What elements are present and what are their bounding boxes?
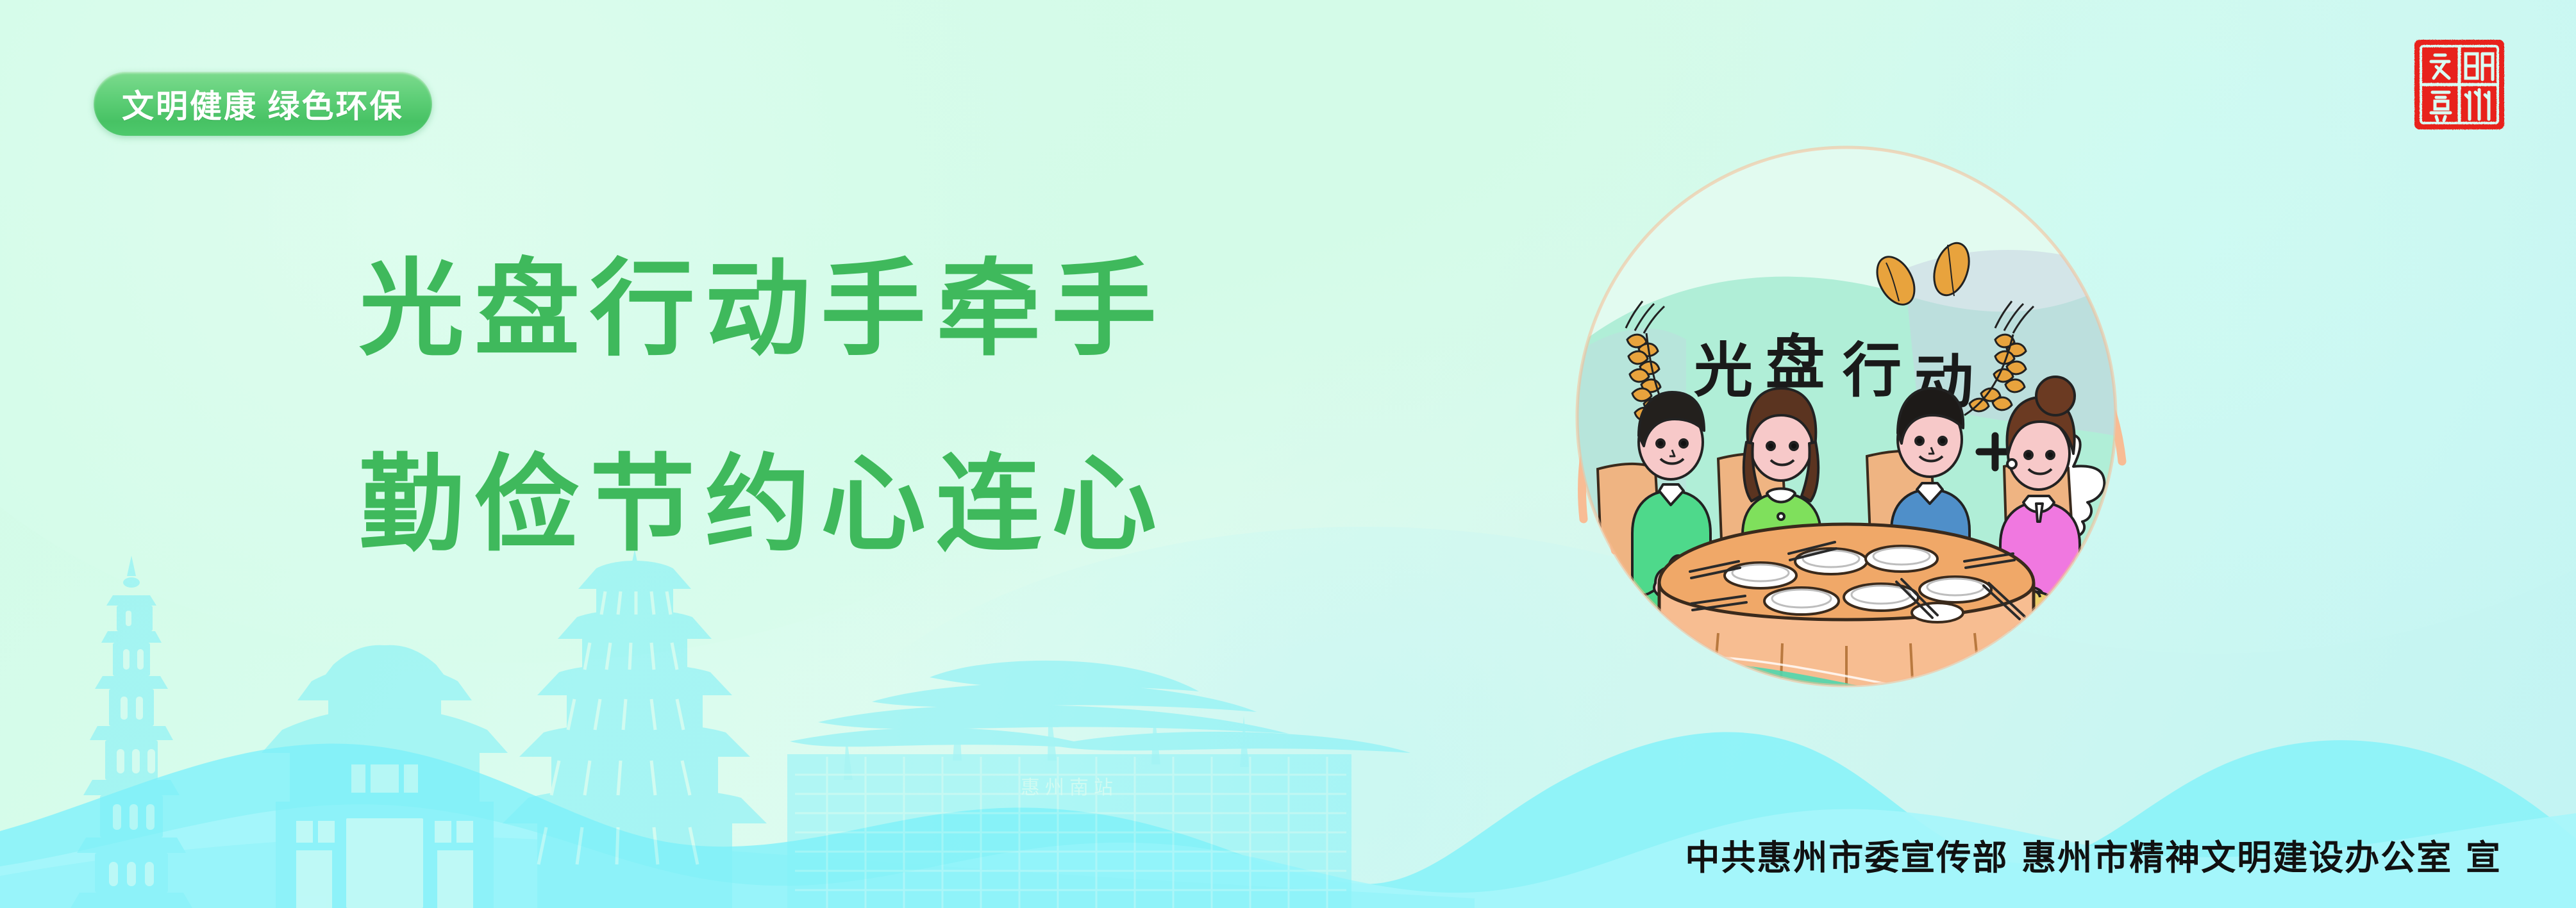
- headline-line-2: 勤俭节约心连心: [359, 407, 1449, 602]
- attribution-text: 中共惠州市委宣传部 惠州市精神文明建设办公室 宣: [1685, 829, 2502, 880]
- handwritten-char-1: 光: [1694, 336, 1753, 405]
- slogan-badge[interactable]: 文明健康 绿色环保: [94, 72, 432, 136]
- wenming-huizhou-seal-icon: 文 明 惠 州: [2412, 37, 2507, 132]
- person-woman-pink: [2000, 377, 2080, 695]
- handwritten-char-2: 盘: [1766, 329, 1825, 397]
- page-title: 光盘行动手牵手 勤俭节约心连心: [359, 211, 1449, 602]
- station-sign-label: 惠州南站: [1021, 777, 1118, 799]
- headline-line-1: 光盘行动手牵手: [359, 211, 1449, 407]
- photo-circle-illustration: 光 盘 行 动: [1507, 77, 2186, 756]
- dining-table: [1659, 524, 2034, 719]
- slogan-badge-label: 文明健康 绿色环保: [122, 81, 404, 127]
- illustration-scene: 光 盘 行 动: [1577, 147, 2116, 756]
- poster-canvas: 惠州南站 文明健康 绿色环保 光盘行动手牵手 勤俭节约心连心 文 明 惠 州: [0, 0, 2576, 908]
- handwritten-char-3: 行: [1843, 336, 1902, 405]
- railway-station-icon: 惠州南站: [787, 661, 1410, 908]
- skyline-silhouette: 惠州南站: [0, 549, 1475, 908]
